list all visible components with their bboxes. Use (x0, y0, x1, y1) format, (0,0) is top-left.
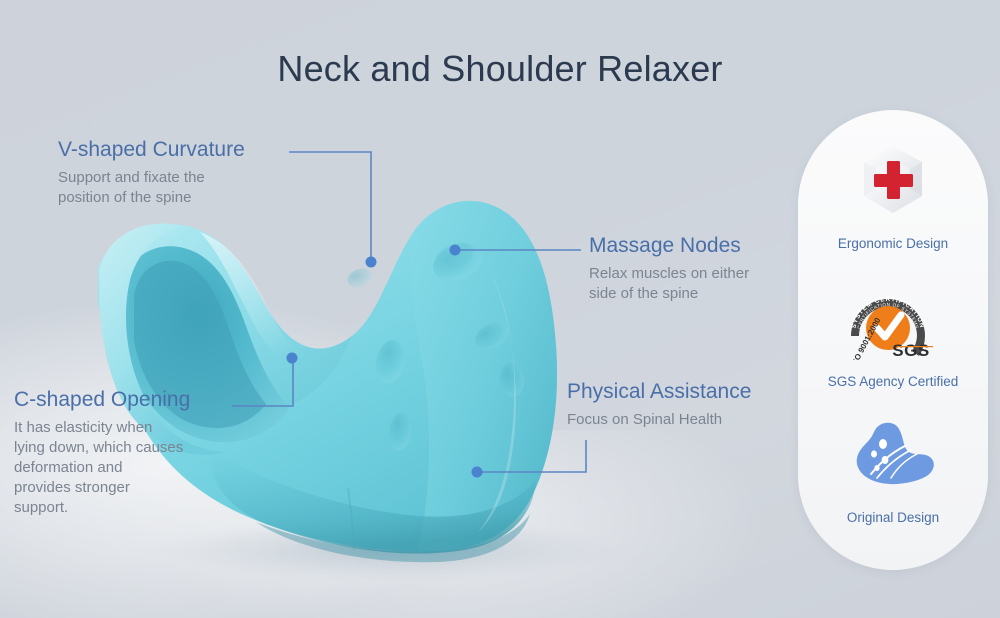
connector-physical-assistance (480, 440, 586, 472)
callout-title-physical-assistance: Physical Assistance (567, 380, 777, 403)
connector-dot-v-shaped (366, 257, 377, 268)
connector-dot-physical-assistance (472, 467, 483, 478)
badge-ergonomic-design: Ergonomic Design (798, 132, 988, 251)
callout-body-c-shaped-opening: It has elasticity when lying down, which… (14, 418, 190, 518)
badge-caption-sgs-certified: SGS Agency Certified (798, 374, 988, 389)
badge-caption-ergonomic-design: Ergonomic Design (798, 236, 988, 251)
connector-c-shaped (232, 363, 293, 406)
neck-relaxer-silhouette-icon (798, 410, 988, 502)
sgs-certification-seal-icon: SYSTEM CERTIFICATION CERTIFICATION OF SY… (798, 282, 988, 366)
seal-brand-text: SGS (892, 341, 929, 360)
callout-physical-assistance: Physical Assistance Focus on Spinal Heal… (567, 380, 777, 430)
medical-cross-hexagon-icon (798, 132, 988, 228)
callout-body-physical-assistance: Focus on Spinal Health (567, 410, 777, 430)
badge-original-design: Original Design (798, 410, 988, 525)
certification-badge-panel: Ergonomic Design SYSTEM CERTIFICATION (798, 110, 988, 570)
callout-title-v-shaped-curvature: V-shaped Curvature (58, 138, 245, 161)
connector-v-shaped (289, 152, 371, 261)
connector-dot-c-shaped (287, 353, 298, 364)
callout-massage-nodes: Massage Nodes Relax muscles on either si… (589, 234, 789, 304)
callout-title-c-shaped-opening: C-shaped Opening (14, 388, 190, 411)
connector-dot-massage-nodes (450, 245, 461, 256)
callout-body-massage-nodes: Relax muscles on either side of the spin… (589, 264, 789, 304)
callout-c-shaped-opening: C-shaped Opening It has elasticity when … (14, 388, 190, 519)
badge-sgs-certified: SYSTEM CERTIFICATION CERTIFICATION OF SY… (798, 282, 988, 389)
callout-body-v-shaped-curvature: Support and fixate the position of the s… (58, 168, 245, 208)
callout-v-shaped-curvature: V-shaped Curvature Support and fixate th… (58, 138, 245, 208)
badge-caption-original-design: Original Design (798, 510, 988, 525)
callout-title-massage-nodes: Massage Nodes (589, 234, 789, 257)
infographic-canvas: Neck and Shoulder Relaxer (0, 0, 1000, 618)
